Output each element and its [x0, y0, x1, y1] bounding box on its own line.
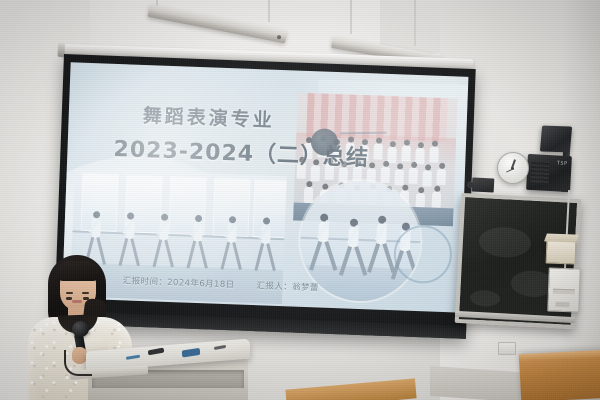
lectern-cable: [64, 350, 92, 376]
wall-speaker-large: [526, 154, 572, 192]
wall-speaker-small: [540, 126, 572, 153]
wooden-desk-center: [285, 378, 416, 400]
presenter-fringe: [56, 261, 100, 281]
lectern-item-marker[interactable]: [148, 348, 164, 356]
classroom-presentation-photo: 舞蹈表演专业 2023-2024（二）总结 汇报时间：2024年6月18日 汇报…: [0, 0, 600, 400]
light-switch-plate[interactable]: [498, 342, 516, 355]
ceiling-light-rod-4: [414, 0, 416, 46]
wall-clock: [497, 152, 529, 184]
wall-control-panel[interactable]: [547, 267, 581, 312]
presenter-mouth: [72, 300, 82, 303]
lectern-item-remote[interactable]: [182, 348, 200, 358]
av-control-device: [472, 177, 495, 192]
microphone-icon: [72, 321, 89, 337]
lectern-item-pen[interactable]: [126, 355, 140, 360]
ceiling-light-rod-2: [268, 0, 270, 22]
wall-junction-box: [546, 239, 577, 264]
ceiling-light-rod-3: [350, 0, 352, 34]
wooden-desk-right: [519, 350, 600, 400]
slide-reporter: 汇报人：翁梦蕾: [256, 279, 319, 293]
slide-title-block: 舞蹈表演专业 2023-2024（二）总结: [113, 100, 415, 174]
lectern-item-clip[interactable]: [214, 345, 226, 350]
